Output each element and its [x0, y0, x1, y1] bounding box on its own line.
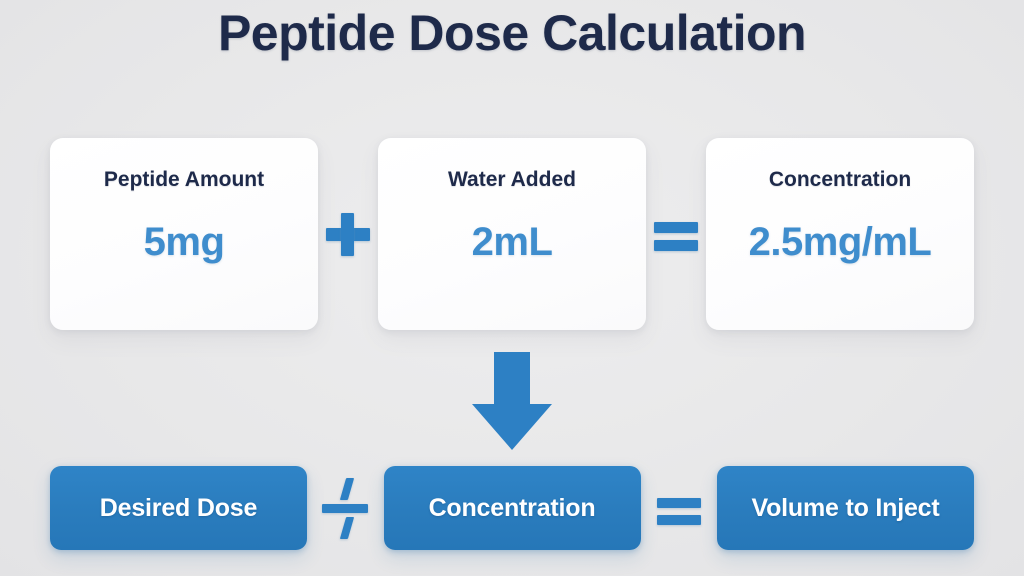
card-label: Water Added — [448, 168, 576, 191]
card-value: 5mg — [144, 221, 225, 263]
pill-volume-to-inject: Volume to Inject — [717, 466, 974, 550]
equals-icon — [652, 478, 706, 538]
page-title: Peptide Dose Calculation — [0, 4, 1024, 62]
pill-label: Volume to Inject — [751, 494, 939, 523]
divide-tick-top — [340, 478, 354, 500]
arrow-shaft — [494, 352, 530, 406]
card-label: Peptide Amount — [104, 168, 264, 191]
pill-label: Desired Dose — [100, 494, 257, 523]
card-water-added: Water Added 2mL — [378, 138, 646, 330]
card-value: 2.5mg/mL — [749, 221, 932, 263]
equals-icon — [646, 204, 706, 264]
plus-icon — [318, 204, 378, 264]
divide-bar — [322, 504, 368, 513]
dose-formula-row: Desired Dose Concentration Volume to Inj… — [50, 466, 974, 550]
divide-icon — [318, 473, 372, 543]
card-label: Concentration — [769, 168, 911, 191]
pill-concentration: Concentration — [384, 466, 641, 550]
infographic-canvas: Peptide Dose Calculation Peptide Amount … — [0, 0, 1024, 576]
pill-desired-dose: Desired Dose — [50, 466, 307, 550]
divide-tick-bottom — [340, 517, 354, 539]
concentration-formula-row: Peptide Amount 5mg Water Added 2mL Conce… — [50, 138, 974, 330]
pill-label: Concentration — [429, 494, 596, 523]
card-value: 2mL — [472, 221, 553, 263]
card-concentration: Concentration 2.5mg/mL — [706, 138, 974, 330]
arrow-head — [472, 404, 552, 450]
down-arrow-icon — [462, 352, 562, 452]
card-peptide-amount: Peptide Amount 5mg — [50, 138, 318, 330]
